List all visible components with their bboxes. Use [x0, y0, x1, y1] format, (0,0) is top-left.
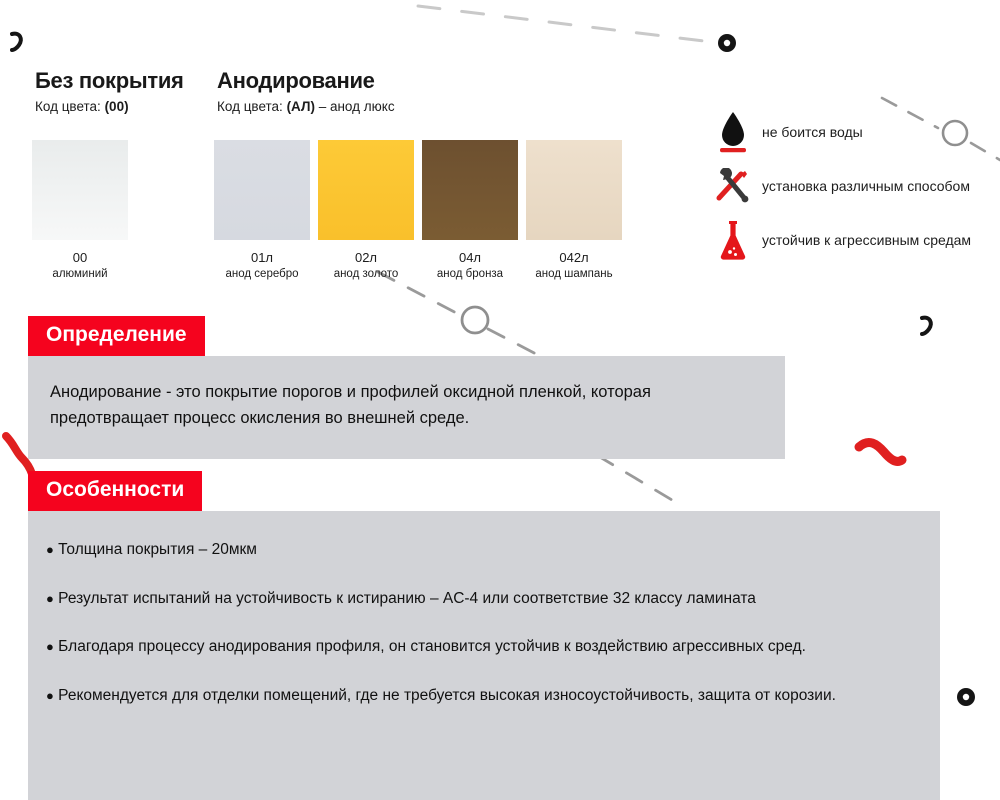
flask-icon — [712, 219, 754, 261]
bullet-glyph: ● — [46, 639, 54, 654]
swatch-name: анод серебро — [226, 268, 299, 280]
features-list: не боится водыустановка различным способ… — [712, 110, 992, 272]
column-subtitle-anodized: Код цвета: (АЛ) – анод люкс — [217, 99, 395, 114]
feature-label: устойчив к агрессивным средам — [762, 232, 971, 249]
column-subtitle-anodized-code: (АЛ) — [287, 99, 315, 114]
bullet-glyph: ● — [46, 688, 54, 703]
column-header-plain: Без покрытия Код цвета: (00) — [35, 68, 184, 114]
column-subtitle-plain: Код цвета: (00) — [35, 99, 184, 114]
swatch-chip[interactable] — [318, 140, 414, 240]
peculiarity-item: ● Рекомендуется для отделки помещений, г… — [46, 683, 920, 710]
swatch-code: 02л — [355, 250, 377, 265]
dot-solid-bottom-right — [957, 688, 975, 706]
swatch-name: анод шампань — [535, 268, 612, 280]
swatch-chip[interactable] — [32, 140, 128, 240]
peculiarity-item: ● Толщина покрытия – 20мкм — [46, 537, 920, 564]
dashed-line-top — [418, 6, 712, 42]
peculiarity-text: Благодаря процессу анодирования профиля,… — [54, 638, 806, 655]
comma-mid-right — [922, 318, 931, 334]
peculiarities-badge: Особенности — [28, 471, 202, 511]
water-drop-icon — [712, 110, 754, 154]
swatch-name: алюминий — [52, 268, 107, 280]
column-title-anodized: Анодирование — [217, 68, 395, 94]
bullet-glyph: ● — [46, 542, 54, 557]
swatch-code: 01л — [251, 250, 273, 265]
dot-solid-top-right — [718, 34, 736, 52]
column-header-anodized: Анодирование Код цвета: (АЛ) – анод люкс — [217, 68, 395, 114]
swatch-group-anodized: 01ланод серебро02ланод золото04ланод бро… — [214, 140, 622, 280]
peculiarity-item: ● Результат испытаний на устойчивость к … — [46, 586, 920, 613]
swatch-chip[interactable] — [526, 140, 622, 240]
column-subtitle-plain-code: (00) — [105, 99, 129, 114]
definition-section: Определение Анодирование - это покрытие … — [28, 316, 785, 459]
swatch-chip[interactable] — [214, 140, 310, 240]
swatch-cell[interactable]: 04ланод бронза — [422, 140, 518, 280]
peculiarity-item: ● Благодаря процессу анодирования профил… — [46, 634, 920, 661]
definition-body: Анодирование - это покрытие порогов и пр… — [28, 356, 785, 459]
swatch-code: 00 — [73, 250, 87, 265]
swatch-chip[interactable] — [422, 140, 518, 240]
swatch-group-plain: 00алюминий — [32, 140, 128, 280]
feature-row: не боится воды — [712, 110, 992, 154]
peculiarity-text: Результат испытаний на устойчивость к ис… — [54, 590, 756, 607]
peculiarities-section: Особенности ● Толщина покрытия – 20мкм● … — [28, 471, 940, 800]
comma-top-left — [12, 34, 21, 50]
swatch-cell[interactable]: 02ланод золото — [318, 140, 414, 280]
swatch-cell[interactable]: 00алюминий — [32, 140, 128, 280]
swatch-code: 042л — [559, 250, 588, 265]
feature-label: установка различным способом — [762, 178, 970, 195]
feature-row: устойчив к агрессивным средам — [712, 218, 992, 262]
swatch-cell[interactable]: 042ланод шампань — [526, 140, 622, 280]
swatch-code: 04л — [459, 250, 481, 265]
column-subtitle-plain-prefix: Код цвета: — [35, 99, 105, 114]
tools-icon — [712, 168, 754, 204]
squiggle-red-right — [859, 443, 902, 462]
bullet-glyph: ● — [46, 591, 54, 606]
peculiarity-text: Рекомендуется для отделки помещений, где… — [54, 687, 836, 704]
peculiarities-body: ● Толщина покрытия – 20мкм● Результат ис… — [28, 511, 940, 800]
feature-label: не боится воды — [762, 124, 863, 141]
definition-badge: Определение — [28, 316, 205, 356]
column-subtitle-anodized-suffix: – анод люкс — [315, 99, 395, 114]
swatch-name: анод золото — [334, 268, 399, 280]
column-subtitle-anodized-prefix: Код цвета: — [217, 99, 287, 114]
definition-text: Анодирование - это покрытие порогов и пр… — [50, 380, 763, 431]
feature-row: установка различным способом — [712, 164, 992, 208]
infographic-page: Без покрытия Код цвета: (00) Анодировани… — [0, 0, 1000, 800]
peculiarity-text: Толщина покрытия – 20мкм — [54, 541, 257, 558]
column-title-plain: Без покрытия — [35, 68, 184, 94]
swatch-name: анод бронза — [437, 268, 503, 280]
swatch-cell[interactable]: 01ланод серебро — [214, 140, 310, 280]
